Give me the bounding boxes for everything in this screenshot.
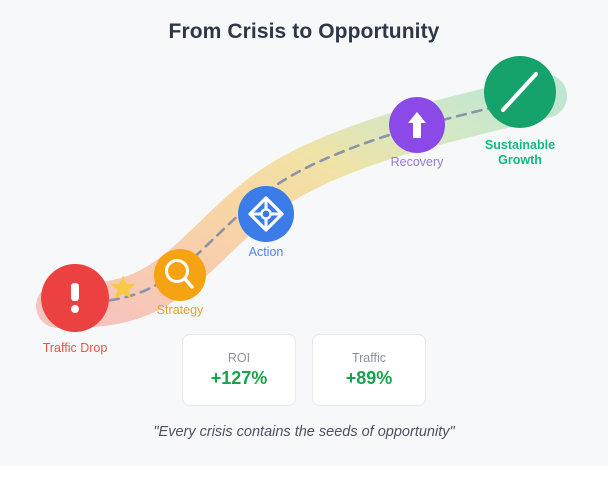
stat-label-traffic: Traffic <box>352 351 386 365</box>
node-traffic-drop[interactable] <box>41 264 109 332</box>
bottom-white-strip <box>0 466 608 500</box>
stat-label-roi: ROI <box>228 351 250 365</box>
node-recovery[interactable] <box>389 97 445 153</box>
node-strategy[interactable] <box>154 249 206 301</box>
stat-value-traffic: +89% <box>346 368 393 389</box>
stat-value-roi: +127% <box>211 368 268 389</box>
infographic-canvas: From Crisis to Opportunity <box>0 0 608 500</box>
stat-card-traffic[interactable]: Traffic +89% <box>312 334 426 406</box>
node-sustainable-growth[interactable] <box>484 56 556 128</box>
stat-card-roi[interactable]: ROI +127% <box>182 334 296 406</box>
stats-row: ROI +127% Traffic +89% <box>0 334 608 406</box>
journey-ribbon <box>58 96 545 306</box>
node-action[interactable] <box>238 186 294 242</box>
closing-quote: "Every crisis contains the seeds of oppo… <box>0 424 608 440</box>
